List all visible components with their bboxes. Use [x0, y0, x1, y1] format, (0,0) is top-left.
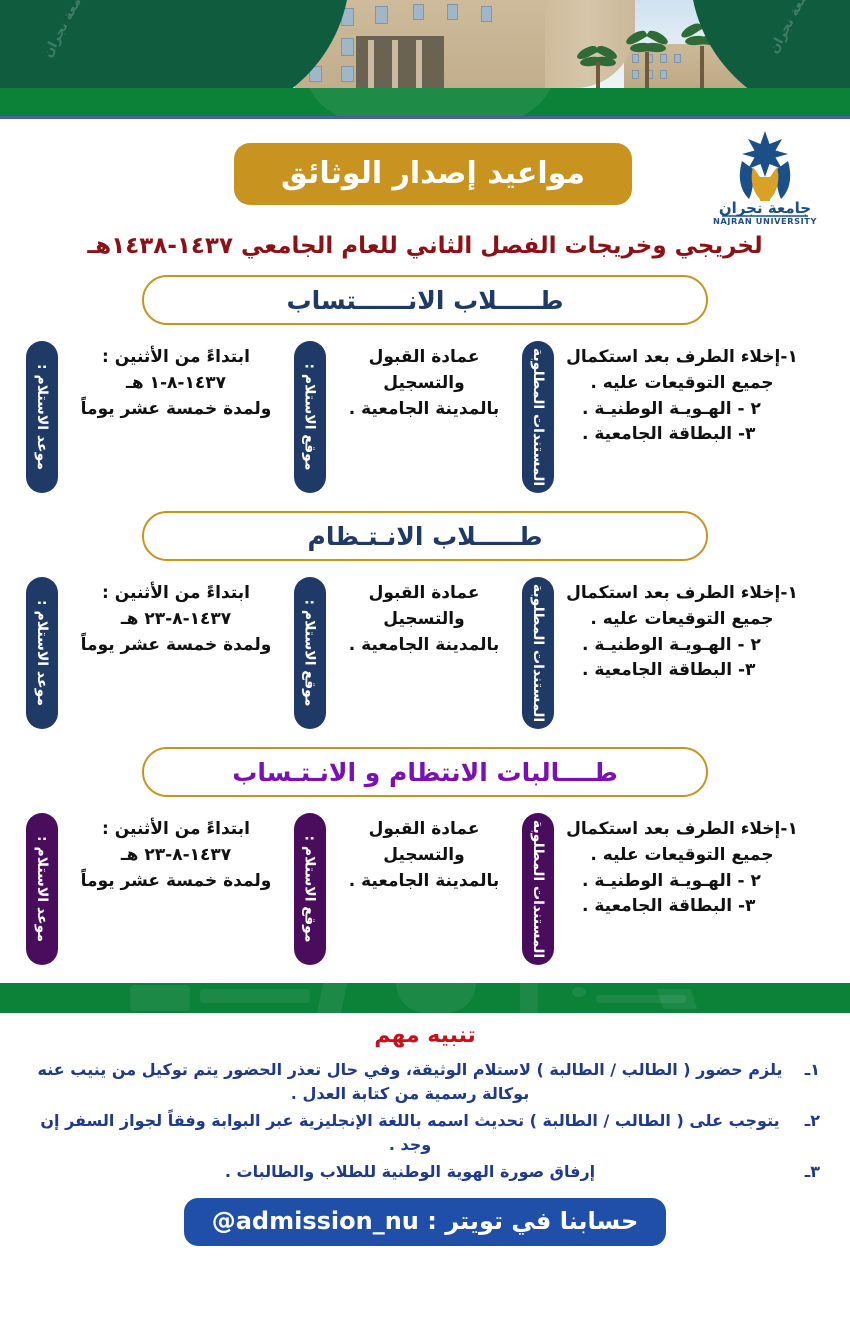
location-column: عمادة القبول والتسجيل بالمدينة الجامعية … — [326, 811, 522, 894]
documents-column: ١-إخلاء الطرف بعد استكمال جميع التوقيعات… — [554, 811, 816, 920]
window — [481, 6, 492, 22]
note-number: ١ـ — [790, 1058, 820, 1082]
date-line: ولمدة خمسة عشر يوماً — [70, 869, 282, 895]
location-label: موقع الاستلام : — [302, 835, 318, 942]
section-body: ١-إخلاء الطرف بعد استكمال جميع التوقيعات… — [0, 797, 850, 975]
page-subtitle: لخريجي وخريجات الفصل الثاني للعام الجامع… — [0, 233, 850, 259]
notes-title: تنبيه مهم — [30, 1023, 820, 1048]
entrance-column — [416, 40, 422, 88]
note-number: ٢ـ — [790, 1109, 820, 1133]
date-label: موعد الاستلام : — [34, 364, 50, 470]
window — [413, 4, 424, 20]
date-column: ابتداءً من الأثنين : ١٤٣٧-٨-١ هـ ولمدة خ… — [58, 339, 294, 422]
najran-university-logo: جامعة نجران NAJRAN UNIVERSITY — [704, 127, 826, 225]
section-body: ١-إخلاء الطرف بعد استكمال جميع التوقيعات… — [0, 325, 850, 503]
document-line: ٣- البطاقة الجامعية . — [560, 894, 804, 920]
important-notes-section: تنبيه مهم ١ـ يلزم حضور ( الطالب / الطالب… — [0, 1013, 850, 1184]
note-text: يتوجب على ( الطالب / الطالبة ) تحديث اسم… — [30, 1109, 790, 1157]
section-body: ١-إخلاء الطرف بعد استكمال جميع التوقيعات… — [0, 561, 850, 739]
entrance-column — [392, 40, 398, 88]
section-title: طــــالبات الانتظام و الانـتـساب — [232, 760, 618, 785]
footer: حسابنا في تويتر : @admission_nu — [0, 1198, 850, 1246]
note-item: ٣ـ إرفاق صورة الهوية الوطنية للطلاب والط… — [30, 1160, 820, 1184]
documents-label: المستندات المطلوبة — [530, 584, 546, 722]
section-title: طـــــلاب الانـتـظام — [308, 524, 543, 549]
location-line: بالمدينة الجامعية . — [338, 633, 510, 659]
documents-label-pill: المستندات المطلوبة — [522, 341, 554, 493]
page-title-pill: مواعيد إصدار الوثائق — [234, 143, 632, 205]
entrance-column — [368, 40, 374, 88]
window — [375, 6, 388, 24]
note-item: ١ـ يلزم حضور ( الطالب / الطالبة ) لاستلا… — [30, 1058, 820, 1106]
document-line: ٣- البطاقة الجامعية . — [560, 658, 804, 684]
palm-tree — [624, 30, 670, 88]
documents-label: المستندات المطلوبة — [530, 820, 546, 958]
section-title-pill: طـــــلاب الانــــــتساب — [142, 275, 708, 325]
location-line: عمادة القبول والتسجيل — [338, 345, 510, 397]
document-line: ٣- البطاقة الجامعية . — [560, 422, 804, 448]
location-column: عمادة القبول والتسجيل بالمدينة الجامعية … — [326, 339, 522, 422]
logo-arabic-text: جامعة نجران — [719, 199, 811, 217]
palm-trunk — [596, 62, 600, 88]
note-text: يلزم حضور ( الطالب / الطالبة ) لاستلام ا… — [30, 1058, 790, 1106]
document-line: جميع التوقيعات عليه . — [560, 607, 804, 633]
date-label: موعد الاستلام : — [34, 600, 50, 706]
date-label-pill: موعد الاستلام : — [26, 341, 58, 493]
document-line: ٢ - الهـويـة الوطنيـة . — [560, 869, 804, 895]
note-text: إرفاق صورة الهوية الوطنية للطلاب والطالب… — [30, 1160, 790, 1184]
green-divider-band-bottom — [0, 983, 850, 1013]
location-line: عمادة القبول والتسجيل — [338, 581, 510, 633]
twitter-handle[interactable]: @admission_nu — [212, 1207, 419, 1235]
date-line: ١٤٣٧-٨-١ هـ — [70, 371, 282, 397]
documents-label-pill: المستندات المطلوبة — [522, 577, 554, 729]
date-line: ١٤٣٧-٨-٢٣ هـ — [70, 607, 282, 633]
twitter-account-pill[interactable]: حسابنا في تويتر : @admission_nu — [184, 1198, 667, 1246]
documents-column: ١-إخلاء الطرف بعد استكمال جميع التوقيعات… — [554, 575, 816, 684]
date-line: ابتداءً من الأثنين : — [70, 581, 282, 607]
date-column: ابتداءً من الأثنين : ١٤٣٧-٨-٢٣ هـ ولمدة … — [58, 575, 294, 658]
twitter-label: حسابنا في تويتر : — [427, 1207, 638, 1235]
date-label-pill: موعد الاستلام : — [26, 813, 58, 965]
date-column: ابتداءً من الأثنين : ١٤٣٧-٨-٢٣ هـ ولمدة … — [58, 811, 294, 894]
location-label: موقع الاستلام : — [302, 363, 318, 470]
date-line: ولمدة خمسة عشر يوماً — [70, 397, 282, 423]
date-label: موعد الاستلام : — [34, 836, 50, 942]
note-item: ٢ـ يتوجب على ( الطالب / الطالبة ) تحديث … — [30, 1109, 820, 1157]
document-line: جميع التوقيعات عليه . — [560, 843, 804, 869]
page-header: مواعيد إصدار الوثائق جامعة نجران NAJRAN … — [0, 119, 850, 231]
location-label: موقع الاستلام : — [302, 599, 318, 706]
window — [341, 38, 354, 56]
section-intizam-students: طـــــلاب الانـتـظام ١-إخلاء الطرف بعد ا… — [0, 511, 850, 739]
location-line: عمادة القبول والتسجيل — [338, 817, 510, 869]
date-line: ١٤٣٧-٨-٢٣ هـ — [70, 843, 282, 869]
location-line: بالمدينة الجامعية . — [338, 869, 510, 895]
logo-english-text: NAJRAN UNIVERSITY — [713, 216, 817, 225]
note-number: ٣ـ — [790, 1160, 820, 1184]
document-line: ١-إخلاء الطرف بعد استكمال — [560, 817, 804, 843]
location-column: عمادة القبول والتسجيل بالمدينة الجامعية … — [326, 575, 522, 658]
palm-trunk — [645, 52, 649, 88]
document-line: ٢ - الهـويـة الوطنيـة . — [560, 397, 804, 423]
date-line: ولمدة خمسة عشر يوماً — [70, 633, 282, 659]
document-line: جميع التوقيعات عليه . — [560, 371, 804, 397]
section-intisab-students: طـــــلاب الانــــــتساب ١-إخلاء الطرف ب… — [0, 275, 850, 503]
campus-photo-banner: جامعة نجران جامعة نجران — [0, 0, 850, 88]
section-title-pill: طـــــلاب الانـتـظام — [142, 511, 708, 561]
documents-label: المستندات المطلوبة — [530, 348, 546, 486]
page-title: مواعيد إصدار الوثائق — [281, 159, 585, 189]
date-line: ابتداءً من الأثنين : — [70, 345, 282, 371]
location-line: بالمدينة الجامعية . — [338, 397, 510, 423]
document-line: ١-إخلاء الطرف بعد استكمال — [560, 345, 804, 371]
document-line: ١-إخلاء الطرف بعد استكمال — [560, 581, 804, 607]
palm-trunk — [700, 46, 704, 88]
date-label-pill: موعد الاستلام : — [26, 577, 58, 729]
section-title: طـــــلاب الانــــــتساب — [286, 288, 563, 313]
documents-column: ١-إخلاء الطرف بعد استكمال جميع التوقيعات… — [554, 339, 816, 448]
window — [447, 4, 458, 20]
section-female-students: طــــالبات الانتظام و الانـتـساب ١-إخلاء… — [0, 747, 850, 975]
section-title-pill: طــــالبات الانتظام و الانـتـساب — [142, 747, 708, 797]
window — [341, 66, 354, 82]
location-label-pill: موقع الاستلام : — [294, 813, 326, 965]
palm-tree — [576, 44, 620, 88]
documents-label-pill: المستندات المطلوبة — [522, 813, 554, 965]
sections-container: طـــــلاب الانــــــتساب ١-إخلاء الطرف ب… — [0, 275, 850, 975]
green-divider-bar-top — [0, 88, 850, 116]
location-label-pill: موقع الاستلام : — [294, 577, 326, 729]
document-line: ٢ - الهـويـة الوطنيـة . — [560, 633, 804, 659]
location-label-pill: موقع الاستلام : — [294, 341, 326, 493]
date-line: ابتداءً من الأثنين : — [70, 817, 282, 843]
